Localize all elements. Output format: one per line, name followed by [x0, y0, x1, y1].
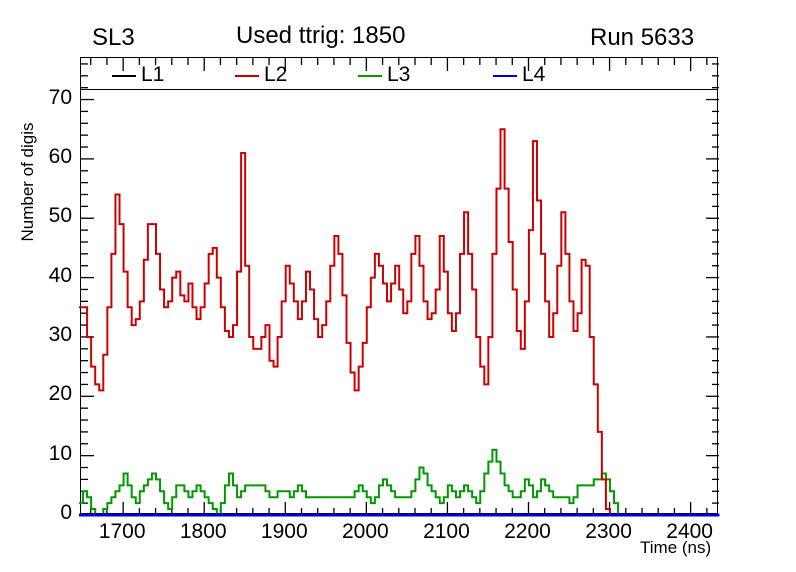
y-axis-label: Number of digis — [18, 92, 38, 272]
x-tick-label: 2000 — [325, 520, 405, 544]
header-left-label: SL3 — [92, 24, 135, 52]
x-tick-label: 2400 — [650, 520, 730, 544]
x-tick-label: 1800 — [163, 520, 243, 544]
y-tick-label: 10 — [26, 442, 72, 466]
legend-label-l3: L3 — [387, 63, 410, 86]
y-tick-label: 70 — [26, 86, 72, 110]
legend-swatch-l1 — [112, 75, 136, 77]
legend-swatch-l3 — [358, 75, 382, 77]
x-tick-label: 2300 — [569, 520, 649, 544]
legend-swatch-l2 — [235, 75, 259, 77]
y-tick-label: 40 — [26, 264, 72, 288]
y-tick-label: 60 — [26, 145, 72, 169]
series-line-l3 — [79, 450, 719, 515]
legend-item-l1[interactable]: L1 — [112, 63, 164, 87]
legend-item-l4[interactable]: L4 — [493, 63, 545, 87]
y-tick-label: 50 — [26, 204, 72, 228]
header-right-label: Run 5633 — [590, 24, 694, 52]
legend-label-l1: L1 — [141, 63, 164, 86]
y-tick-label: 30 — [26, 323, 72, 347]
legend-item-l2[interactable]: L2 — [235, 63, 287, 87]
legend-label-l4: L4 — [522, 63, 545, 86]
y-tick-label: 0 — [26, 501, 72, 525]
legend-item-l3[interactable]: L3 — [358, 63, 410, 87]
chart-title: Used ttrig: 1850 — [236, 22, 405, 50]
plot-frame — [80, 57, 718, 514]
y-tick-label: 20 — [26, 382, 72, 406]
chart-canvas: SL3 Used ttrig: 1850 Run 5633 Number of … — [0, 0, 796, 572]
x-tick-label: 1900 — [244, 520, 324, 544]
x-tick-label: 2200 — [487, 520, 567, 544]
data-series-group — [81, 58, 719, 515]
legend-swatch-l4 — [493, 75, 517, 77]
series-line-l2 — [79, 129, 719, 515]
x-tick-label: 2100 — [406, 520, 486, 544]
legend-label-l2: L2 — [264, 63, 287, 86]
legend: L1 L2 L3 L4 — [80, 57, 718, 90]
x-tick-label: 1700 — [82, 520, 162, 544]
